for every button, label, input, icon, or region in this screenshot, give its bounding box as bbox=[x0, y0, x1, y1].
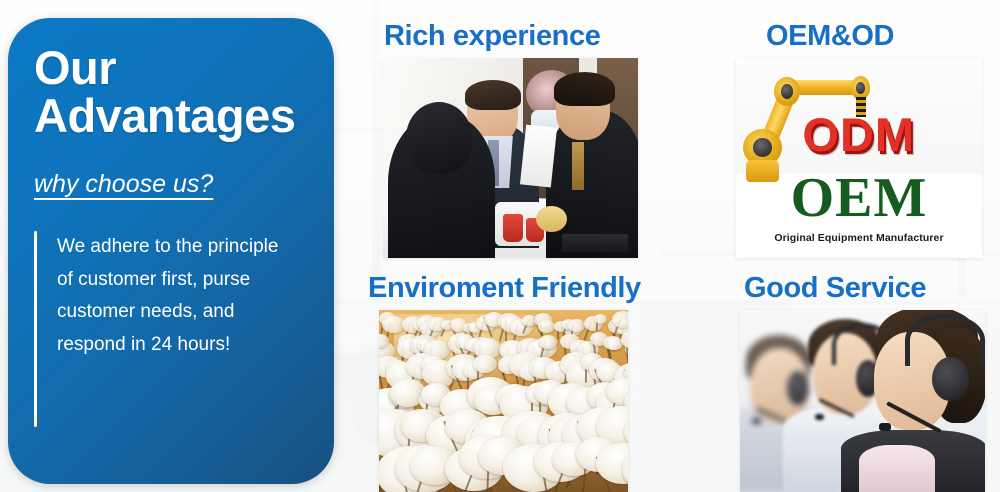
title-line-2: Advantages bbox=[34, 92, 312, 140]
call-center-agents-photo bbox=[740, 310, 985, 492]
heading-enviroment-friendly: Enviroment Friendly bbox=[368, 274, 641, 303]
heading-oem-od: OEM&OD bbox=[766, 22, 982, 51]
feature-oem-odm: OEM&OD ODM OEM Original Equipme bbox=[736, 22, 982, 258]
advantages-banner: Our Advantages why choose us? We adhere … bbox=[0, 0, 1000, 492]
our-advantages-panel: Our Advantages why choose us? We adhere … bbox=[8, 18, 334, 484]
oem-tagline: Original Equipment Manufacturer bbox=[736, 232, 982, 244]
odm-text: ODM bbox=[802, 107, 915, 162]
feature-good-service: Good Service bbox=[740, 274, 985, 492]
feature-rich-experience: Rich experience bbox=[378, 22, 638, 258]
cotton-field-photo bbox=[379, 310, 628, 492]
odm-wordmark: ODM bbox=[802, 92, 979, 176]
panel-body-block: We adhere to the principle of customer f… bbox=[34, 231, 312, 427]
vertical-accent-bar bbox=[34, 231, 37, 427]
panel-body-text: We adhere to the principle of customer f… bbox=[57, 231, 289, 427]
oem-odm-logo-image: ODM OEM Original Equipment Manufacturer bbox=[736, 58, 982, 258]
panel-subtitle: why choose us? bbox=[34, 170, 312, 199]
business-meeting-photo bbox=[383, 58, 638, 258]
title-line-1: Our bbox=[34, 41, 116, 94]
page-title: Our Advantages bbox=[34, 44, 312, 140]
oem-wordmark: OEM bbox=[736, 170, 982, 226]
heading-rich-experience: Rich experience bbox=[384, 22, 638, 51]
heading-good-service: Good Service bbox=[744, 274, 985, 303]
feature-enviroment-friendly: Enviroment Friendly bbox=[368, 274, 641, 492]
